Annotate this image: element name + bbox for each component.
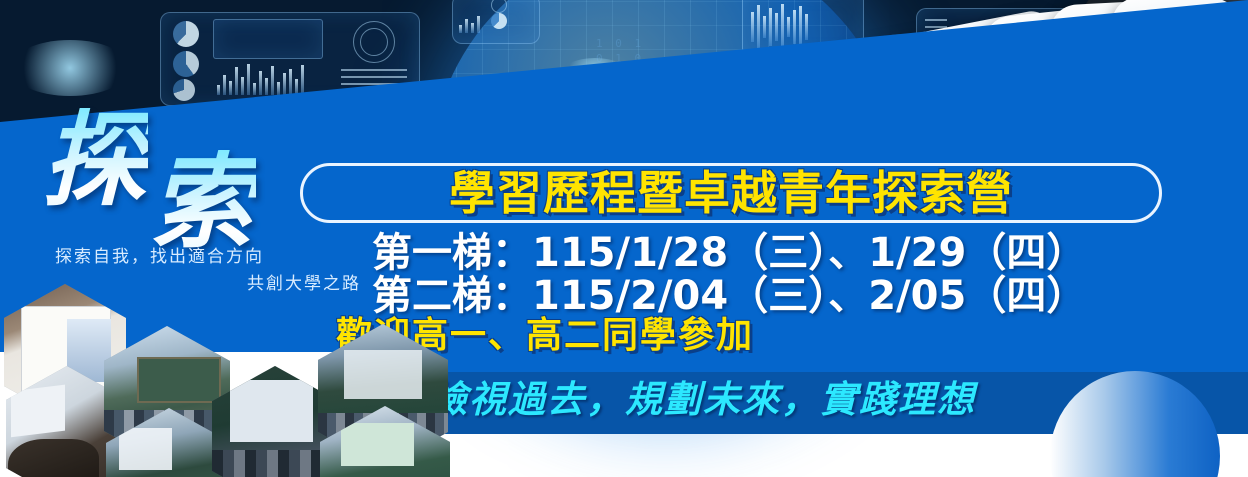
promotional-banner: 1 0 1 0 1 0 1 1 0 0 1 1 0 0 1 1 1 — [0, 0, 1248, 477]
hud-mini-bars — [459, 15, 480, 33]
photo-collage — [0, 288, 500, 477]
session-1-line: 第一梯：115/1/28（三）、1/29（四） — [372, 232, 1162, 275]
tagline-line-1: 探索自我，找出適合方向 — [55, 247, 264, 266]
hud-candle-chart — [751, 3, 808, 51]
hud-pie-icon-2 — [173, 51, 199, 77]
hud-bar-chart-icon — [217, 61, 304, 95]
event-title-text: 學習歷程暨卓越青年探索營 — [449, 170, 1013, 216]
hud-ring-icon-inner — [360, 28, 388, 56]
hud-pie-icon-3 — [173, 79, 195, 101]
hud-mini-pie — [491, 13, 507, 29]
event-title-pill: 學習歷程暨卓越青年探索營 — [300, 163, 1162, 223]
hud-mini-ring — [491, 0, 507, 13]
hud-area-chart — [213, 19, 323, 59]
hud-panel-icons — [452, 0, 540, 44]
hud-pie-icon — [173, 21, 199, 47]
glow-spot-left — [10, 40, 130, 96]
brand-char-second: 索 — [150, 150, 256, 254]
brand-char-first: 探 — [42, 108, 148, 212]
